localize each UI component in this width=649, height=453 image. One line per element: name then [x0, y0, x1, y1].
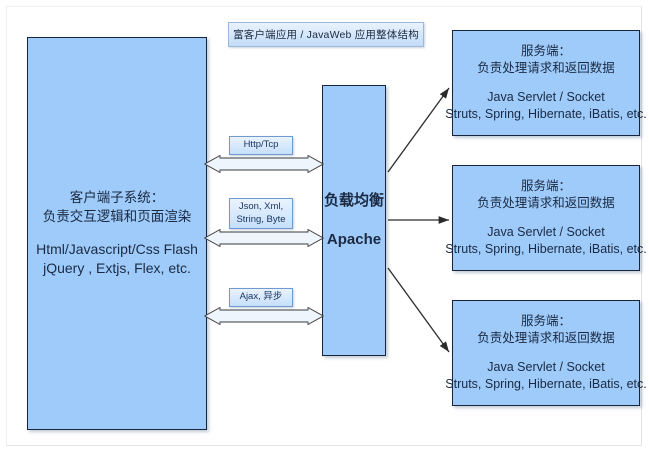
arrow-apache-to-server-3 — [388, 268, 449, 352]
server-arrows-overlay — [0, 0, 649, 453]
arrow-apache-to-server-1 — [388, 88, 449, 172]
diagram-canvas: 富客户端应用 / JavaWeb 应用整体结构 客户端子系统： 负责交互逻辑和页… — [0, 0, 649, 453]
